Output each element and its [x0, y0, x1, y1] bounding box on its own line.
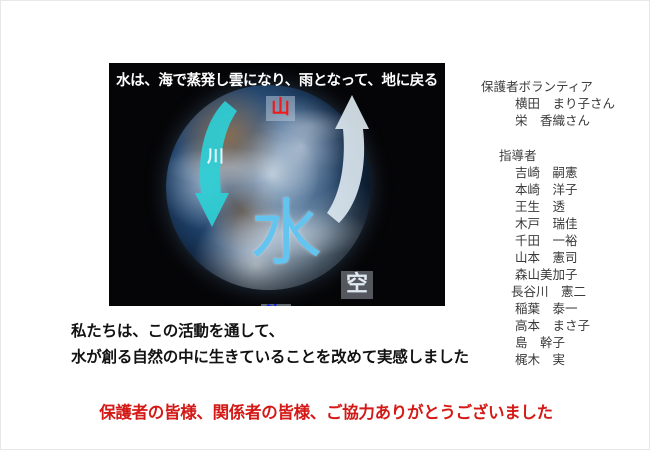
instructor-name: 島 幹子: [515, 335, 650, 352]
closing-statement: 私たちは、この活動を通して、 水が創る自然の中に生きていることを改めて実感しまし…: [71, 319, 469, 371]
volunteer-name: 栄 香織さん: [515, 113, 650, 130]
instructors-heading: 指導者: [499, 148, 650, 165]
instructor-name: 高本 まさ子: [515, 318, 650, 335]
instructor-name: 梶木 実: [515, 352, 650, 369]
instructor-name: 千田 一裕: [515, 233, 650, 250]
instructor-name: 本崎 洋子: [515, 182, 650, 199]
cycle-label-mountain: 山: [266, 96, 295, 121]
statement-line: 私たちは、この活動を通して、: [71, 319, 469, 345]
instructor-name: 稲葉 泰一: [515, 301, 650, 318]
photo-caption: 水は、海で蒸発し雲になり、雨となって、地に戻る: [109, 69, 445, 90]
instructor-name: 山本 憲司: [515, 250, 650, 267]
credits-column: 保護者ボランティア 横田 まり子さん 栄 香織さん 指導者 吉崎 嗣憲 本崎 洋…: [481, 79, 650, 369]
volunteer-name: 横田 まり子さん: [515, 96, 650, 113]
upward-evaporation-arrow-icon: [327, 93, 369, 223]
thank-you-message: 保護者の皆様、関係者の皆様、ご協力ありがとうございました: [1, 399, 650, 423]
statement-line: 水が創る自然の中に生きていることを改めて実感しました: [71, 345, 469, 371]
instructor-name: 長谷川 憲二: [511, 284, 650, 301]
water-cycle-photo-panel: 水は、海で蒸発し雲になり、雨となって、地に戻る 山 川 水 海 空: [109, 63, 445, 306]
instructor-name: 森山美加子: [515, 267, 650, 284]
cycle-label-sky: 空: [341, 271, 373, 299]
volunteers-heading: 保護者ボランティア: [481, 79, 650, 96]
instructor-name: 吉崎 嗣憲: [515, 165, 650, 182]
cycle-label-water-center: 水: [250, 198, 322, 270]
cycle-label-river: 川: [207, 148, 224, 165]
downward-water-arrow-icon: [195, 101, 237, 236]
instructor-name: 木戸 瑞佳: [515, 216, 650, 233]
instructor-name: 王生 透: [515, 199, 650, 216]
cycle-label-sea: 海: [261, 304, 291, 306]
presentation-slide: 水は、海で蒸発し雲になり、雨となって、地に戻る 山 川 水 海 空 保護者ボラン…: [0, 0, 650, 450]
